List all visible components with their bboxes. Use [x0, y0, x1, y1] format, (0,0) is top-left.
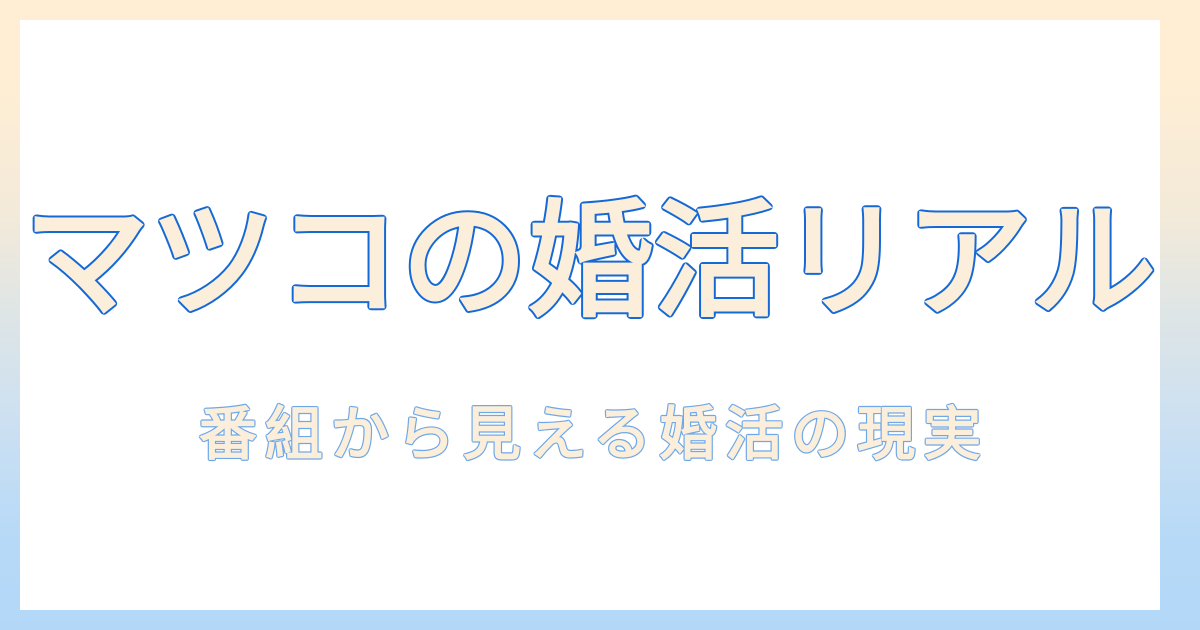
- poster-canvas: マツコの婚活リアル 番組から見える婚活の現実: [0, 0, 1200, 630]
- poster-subtitle-container: 番組から見える婚活の現実: [20, 382, 1160, 492]
- poster-title: マツコの婚活リアル: [24, 188, 1157, 335]
- poster-title-container: マツコの婚活リアル: [20, 181, 1160, 351]
- poster-subtitle-graphic: 番組から見える婚活の現実: [20, 382, 1160, 492]
- poster-title-graphic: マツコの婚活リアル: [20, 181, 1160, 351]
- poster-text-block: マツコの婚活リアル 番組から見える婚活の現実: [20, 20, 1160, 610]
- poster-card: マツコの婚活リアル 番組から見える婚活の現実: [20, 20, 1160, 610]
- poster-subtitle: 番組から見える婚活の現実: [199, 400, 989, 468]
